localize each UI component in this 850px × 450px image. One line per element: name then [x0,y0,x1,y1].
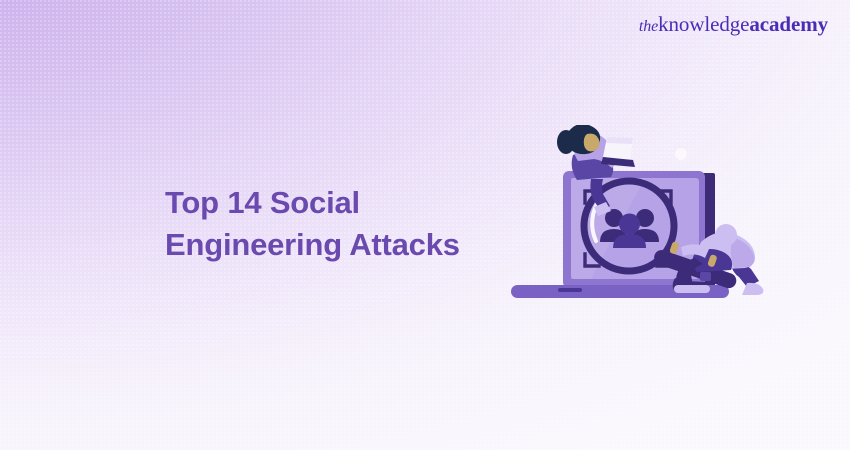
kneeling-person-head [715,224,737,246]
kneeling-person-boot [674,285,710,293]
kneeling-person-jacket-shade [731,238,755,268]
page-title-line-2: Engineering Attacks [165,224,460,266]
page-title-line-1: Top 14 Social [165,182,460,224]
promo-banner: theknowledgeacademy Top 14 Social Engine… [0,0,850,450]
logo-word-knowledge: knowledge [658,12,749,36]
sitting-person-ponytail [557,130,575,154]
logo-word-the: the [639,18,658,35]
laptop-trackpad-notch [558,288,582,292]
logo-word-academy: academy [749,12,828,36]
decorative-bubble [675,148,687,160]
page-title: Top 14 Social Engineering Attacks [165,182,460,265]
hero-illustration [495,125,785,310]
brand-logo[interactable]: theknowledgeacademy [639,14,828,35]
kneeling-person-knee [700,272,711,281]
